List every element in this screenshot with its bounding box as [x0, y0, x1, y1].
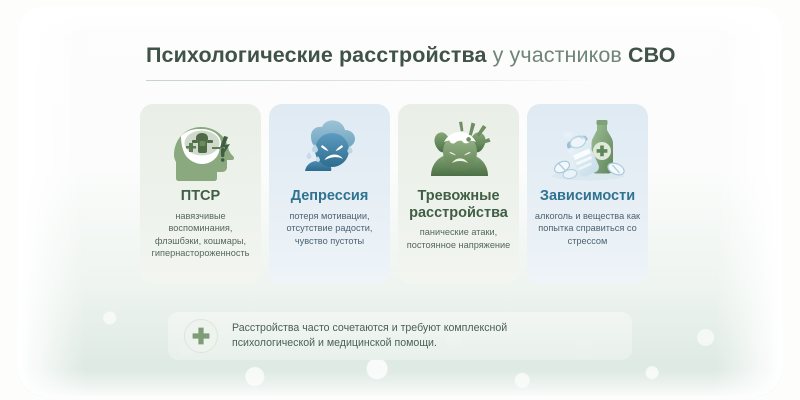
disorder-card-list: ПТСР навязчивые воспоминания, флэшбэки, … — [140, 104, 648, 284]
summary-note-line1: Расстройства часто сочетаются и требуют … — [232, 322, 507, 334]
bottle-pills-icon — [542, 112, 634, 186]
title-strong: Психологические расстройства — [146, 43, 487, 67]
card-description: навязчивые воспоминания, флэшбэки, кошма… — [145, 210, 256, 260]
title-divider — [146, 80, 602, 81]
stressed-head-clutch-icon — [413, 112, 505, 186]
card-title: Тревожные расстройства — [403, 188, 514, 221]
summary-note: Расстройства часто сочетаются и требуют … — [168, 312, 632, 360]
summary-note-text: Расстройства часто сочетаются и требуют … — [232, 321, 507, 352]
card-title: Депрессия — [291, 188, 369, 205]
card-anxiety[interactable]: Тревожные расстройства панические атаки,… — [398, 104, 519, 284]
title-tail: СВО — [628, 43, 676, 67]
infographic-root: Психологические расстройства у участнико… — [0, 0, 800, 400]
card-description: панические атаки, постоянное напряжение — [403, 226, 514, 251]
card-title: Зависимости — [540, 188, 635, 205]
title-light: у участников — [487, 43, 629, 67]
card-title: ПТСР — [181, 188, 220, 205]
card-description: потеря мотивации, отсутствие радости, чу… — [274, 210, 385, 248]
summary-note-line2: психологической и медицинской помощи. — [232, 336, 507, 352]
sad-face-rain-cloud-icon — [287, 112, 373, 186]
head-soldier-thought-icon — [158, 112, 244, 186]
card-addiction[interactable]: Зависимости алкоголь и вещества как попы… — [527, 104, 648, 284]
card-ptsr[interactable]: ПТСР навязчивые воспоминания, флэшбэки, … — [140, 104, 261, 284]
medical-cross-icon — [184, 319, 218, 353]
card-depression[interactable]: Депрессия потеря мотивации, отсутствие р… — [269, 104, 390, 284]
card-description: алкоголь и вещества как попытка справить… — [532, 210, 643, 248]
page-title: Психологические расстройства у участнико… — [146, 42, 666, 68]
